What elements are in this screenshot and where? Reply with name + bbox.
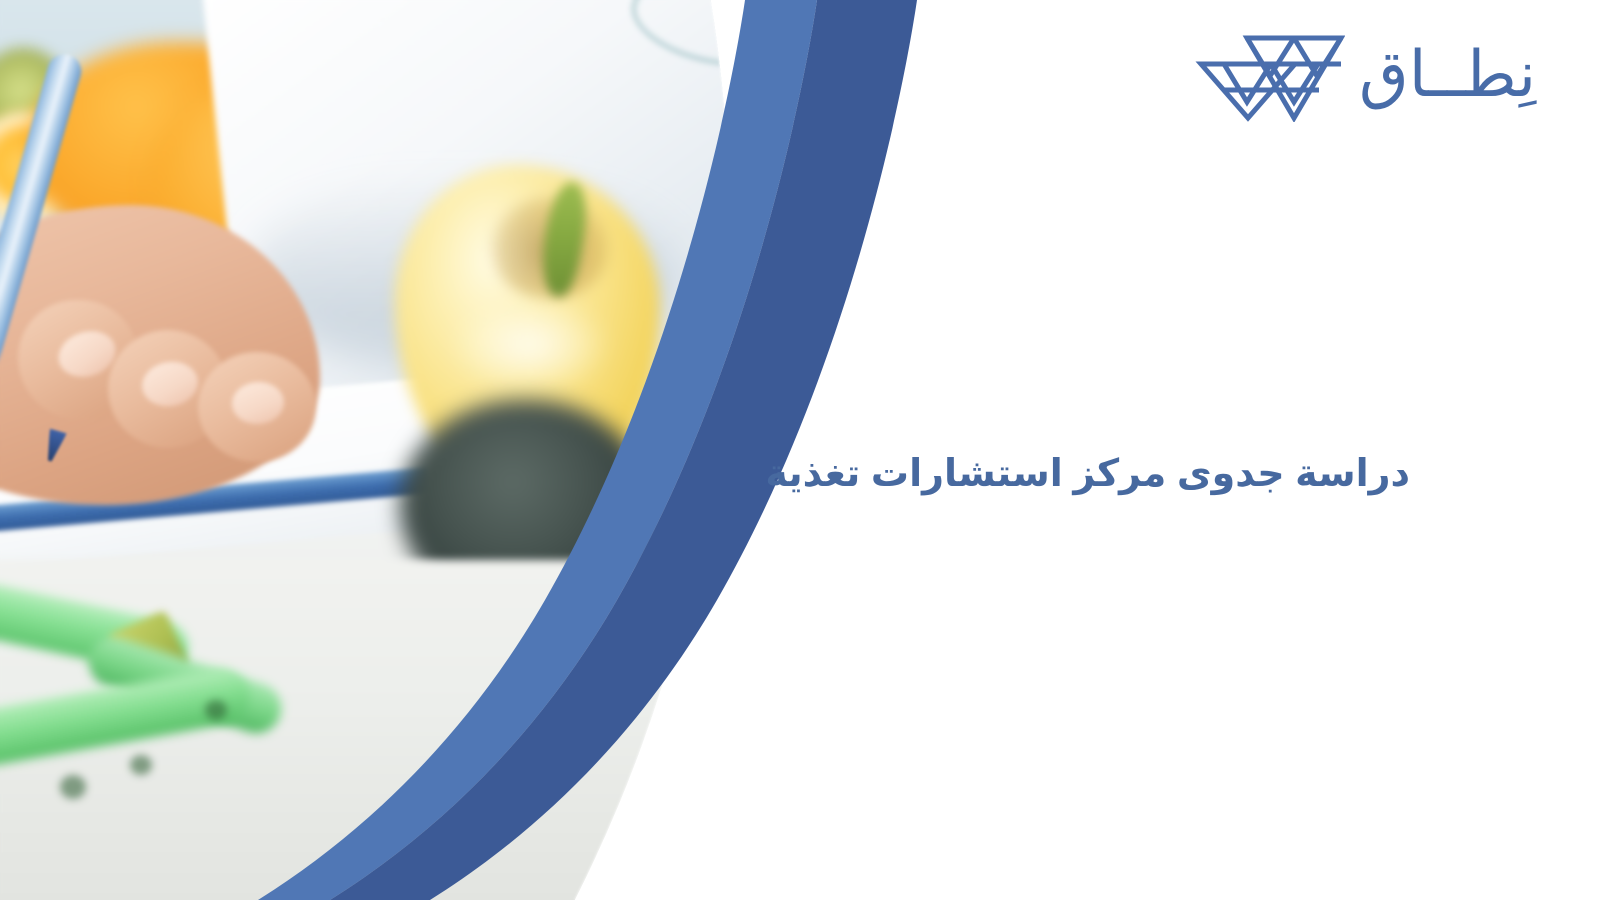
cover-slide: نِطــاق دراسة جدوى مركز استشارات تغذية bbox=[0, 0, 1600, 900]
brand-wordmark: نِطــاق bbox=[1359, 42, 1536, 106]
measuring-tape-hole bbox=[60, 775, 86, 799]
slide-title: دراسة جدوى مركز استشارات تغذية bbox=[850, 449, 1410, 500]
measuring-tape-hole bbox=[130, 755, 152, 775]
triangular-lattice-mark bbox=[1195, 26, 1345, 122]
measuring-tape-hole bbox=[205, 700, 227, 720]
brand-logo[interactable]: نِطــاق bbox=[1195, 26, 1536, 122]
bell-pepper-highlight bbox=[455, 300, 605, 390]
hero-photo-panel bbox=[0, 0, 760, 900]
hero-photo bbox=[0, 0, 760, 900]
